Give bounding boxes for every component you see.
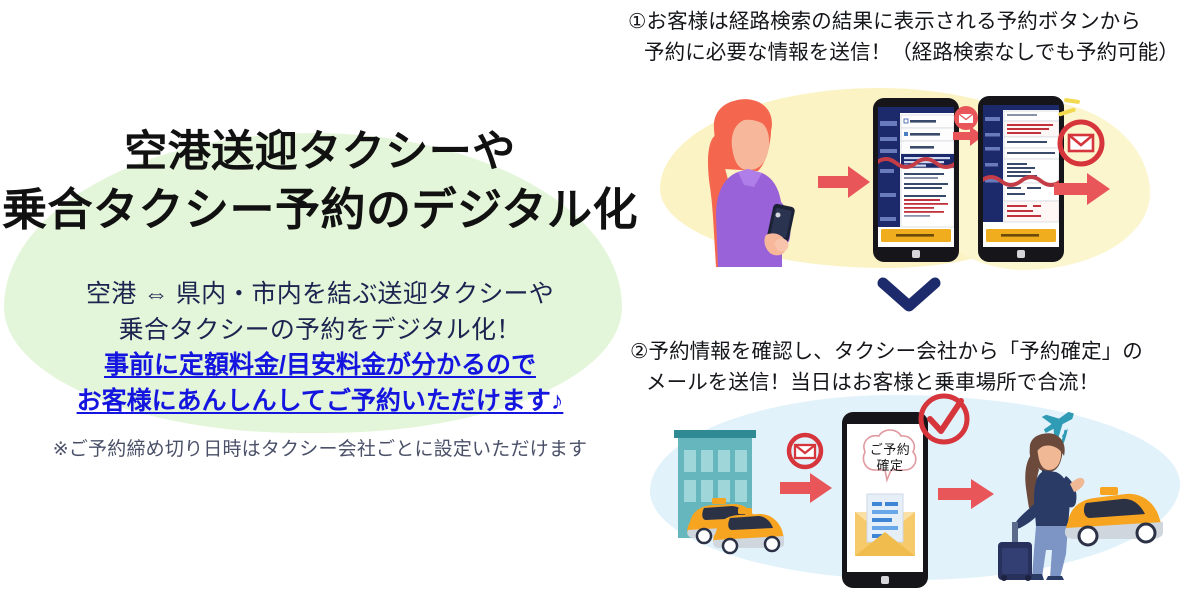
page-title: 空港送迎タクシーや 乗合タクシー予約のデジタル化 <box>0 125 640 239</box>
subcopy-line-2: 乗合タクシーの予約をデジタル化！ <box>0 313 640 349</box>
highlight-line-2: お客様にあんしんしてご予約いただけます♪ <box>0 384 640 420</box>
step-1-line-2: 予約に必要な情報を送信！（経路検索なしでも予約可能） <box>628 37 1179 68</box>
customer-illustration <box>678 95 808 270</box>
arrow-right-icon <box>780 472 832 504</box>
arrow-right-icon <box>938 478 994 510</box>
headline-line-2: 乗合タクシー予約のデジタル化 <box>0 181 640 240</box>
bubble-line-2: 確定 <box>860 458 920 474</box>
bubble-line-1: ご予約 <box>860 442 920 458</box>
step-2-line-1: ②予約情報を確認し、タクシー会社から「予約確定」の <box>630 340 1143 363</box>
check-circle-icon <box>915 390 973 448</box>
poster-canvas: 空港送迎タクシーや 乗合タクシー予約のデジタル化 空港 ⇔ 県内・市内を結ぶ送迎… <box>0 0 1200 600</box>
subcopy-block: 空港 ⇔ 県内・市内を結ぶ送迎タクシーや 乗合タクシーの予約をデジタル化！ 事前… <box>0 277 640 419</box>
chevron-down-icon <box>878 278 940 314</box>
right-panel: ①お客様は経路検索の結果に表示される予約ボタンから 予約に必要な情報を送信！（経… <box>620 0 1200 600</box>
subcopy-line-1: 空港 ⇔ 県内・市内を結ぶ送迎タクシーや <box>0 277 640 313</box>
envelope-icon <box>786 432 824 470</box>
arrow-right-icon <box>1054 172 1110 206</box>
phone-route-search[interactable] <box>873 98 959 262</box>
left-panel: 空港送迎タクシーや 乗合タクシー予約のデジタル化 空港 ⇔ 県内・市内を結ぶ送迎… <box>0 0 640 600</box>
phone-reservation-form[interactable] <box>978 96 1064 262</box>
step-2-description: ②予約情報を確認し、タクシー会社から「予約確定」の メールを送信！当日はお客様と… <box>630 336 1143 398</box>
confirmation-bubble-text: ご予約 確定 <box>860 442 920 475</box>
step-2-line-2: メールを送信！当日はお客様と乗車場所で合流！ <box>630 367 1143 398</box>
step-1-description: ①お客様は経路検索の結果に表示される予約ボタンから 予約に必要な情報を送信！（経… <box>628 6 1179 68</box>
envelope-icon <box>1057 119 1105 167</box>
left-content: 空港送迎タクシーや 乗合タクシー予約のデジタル化 空港 ⇔ 県内・市内を結ぶ送迎… <box>0 0 640 600</box>
headline-line-1: 空港送迎タクシーや <box>0 125 640 181</box>
taxi-illustration <box>1060 478 1170 558</box>
arrow-right-icon <box>818 165 870 199</box>
footnote: ※ご予約締め切り日時はタクシー会社ごとに設定いただけます <box>0 434 640 461</box>
step-1-line-1: ①お客様は経路検索の結果に表示される予約ボタンから <box>628 10 1141 33</box>
highlight-line-1: 事前に定額料金/目安料金が分かるので <box>0 348 640 384</box>
taxi-company-building <box>660 422 780 547</box>
